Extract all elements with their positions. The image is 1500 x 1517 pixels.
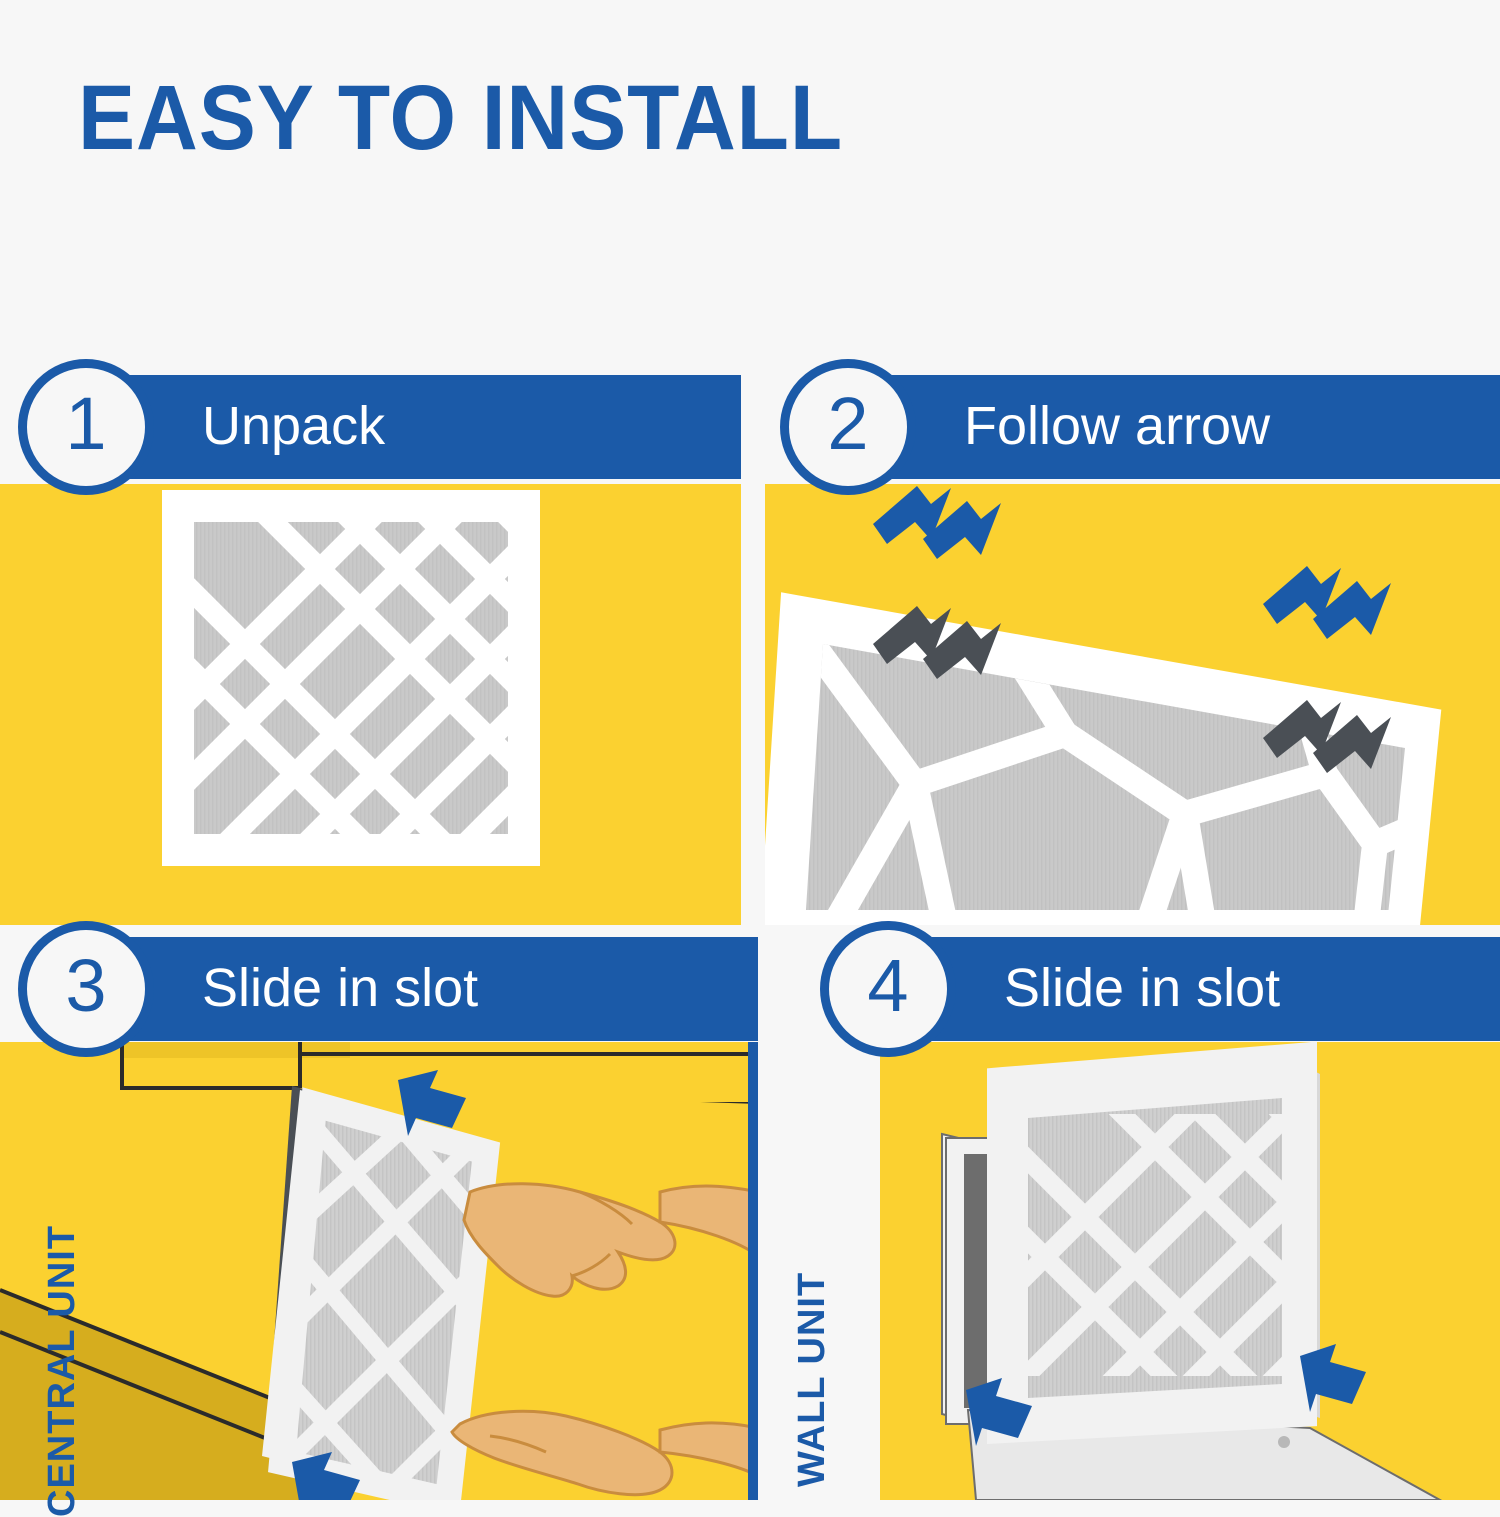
step-3-label: Slide in slot [202, 957, 478, 1019]
step-3-header-bar: Slide in slot [78, 937, 758, 1041]
central-unit-icon [0, 1042, 758, 1500]
step-1-art [0, 484, 741, 925]
step-4-number-badge: 4 [820, 921, 956, 1057]
step-1-number: 1 [27, 368, 145, 486]
air-filter-perspective-icon [765, 484, 1500, 925]
step-3-illustration-panel [0, 1042, 758, 1500]
wall-vent-icon [880, 1042, 1500, 1500]
step-4-illustration-panel [880, 1042, 1500, 1500]
step-2-header-bar: Follow arrow [840, 375, 1500, 479]
step-4-number: 4 [829, 930, 947, 1048]
step-3-number-badge: 3 [18, 921, 154, 1057]
air-filter-front-icon [0, 484, 741, 925]
step-2-illustration-panel [765, 484, 1500, 925]
step-3-art [0, 1042, 758, 1500]
step-1-label: Unpack [202, 395, 385, 457]
step-1-number-badge: 1 [18, 359, 154, 495]
step-2-number-badge: 2 [780, 359, 916, 495]
step-4-label: Slide in slot [1004, 957, 1280, 1019]
infographic-root: EASY TO INSTALL [0, 0, 1500, 1500]
central-unit-side-label: CENTRAL UNIT [41, 1225, 84, 1517]
wall-unit-side-label: WALL UNIT [791, 1272, 834, 1487]
step-1-header-bar: Unpack [78, 375, 741, 479]
step-4-header-bar: Slide in slot [880, 937, 1500, 1041]
step-2-number: 2 [789, 368, 907, 486]
airflow-arrow-blue-icon [1263, 566, 1391, 639]
panel-3-edge-stripe [748, 1042, 758, 1500]
step-2-label: Follow arrow [964, 395, 1270, 457]
step-4-art [880, 1042, 1500, 1500]
airflow-arrow-blue-icon [873, 486, 1001, 559]
page-title: EASY TO INSTALL [78, 72, 843, 164]
step-1-illustration-panel [0, 484, 741, 925]
step-3-number: 3 [27, 930, 145, 1048]
step-2-art [765, 484, 1500, 925]
